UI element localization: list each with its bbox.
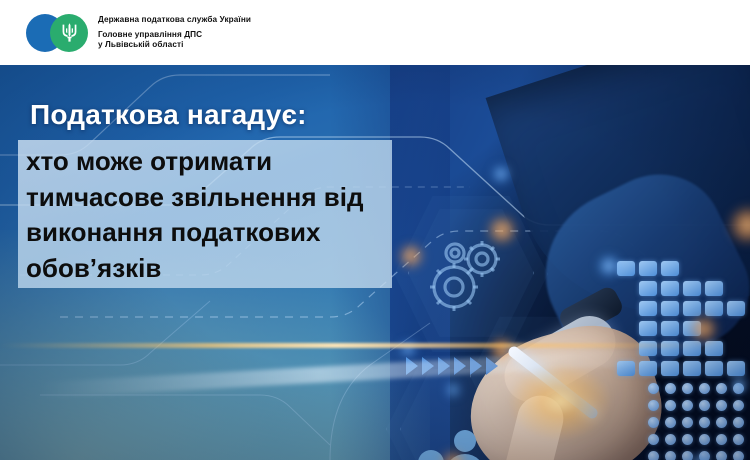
headline-lead: Податкова нагадує:	[30, 100, 307, 130]
headline-body: хто може отримати тимчасове звільнення в…	[26, 144, 394, 286]
promo-banner: Державна податкова служба України Головн…	[0, 0, 750, 460]
headline-line: хто може отримати	[26, 144, 394, 180]
headline-line: виконання податкових	[26, 215, 394, 251]
org-name-block: Державна податкова служба України Головн…	[98, 15, 251, 51]
org-line-1: Державна податкова служба України	[98, 15, 251, 25]
headline-line: тимчасове звільнення від	[26, 180, 394, 216]
org-line-3: у Львівській області	[98, 40, 251, 50]
trident-icon	[50, 14, 88, 52]
header-bar: Державна податкова служба України Головн…	[0, 0, 750, 65]
headline-line: обов’язків	[26, 251, 394, 287]
org-line-2: Головне управління ДПС	[98, 30, 251, 40]
dps-logo	[26, 14, 88, 52]
